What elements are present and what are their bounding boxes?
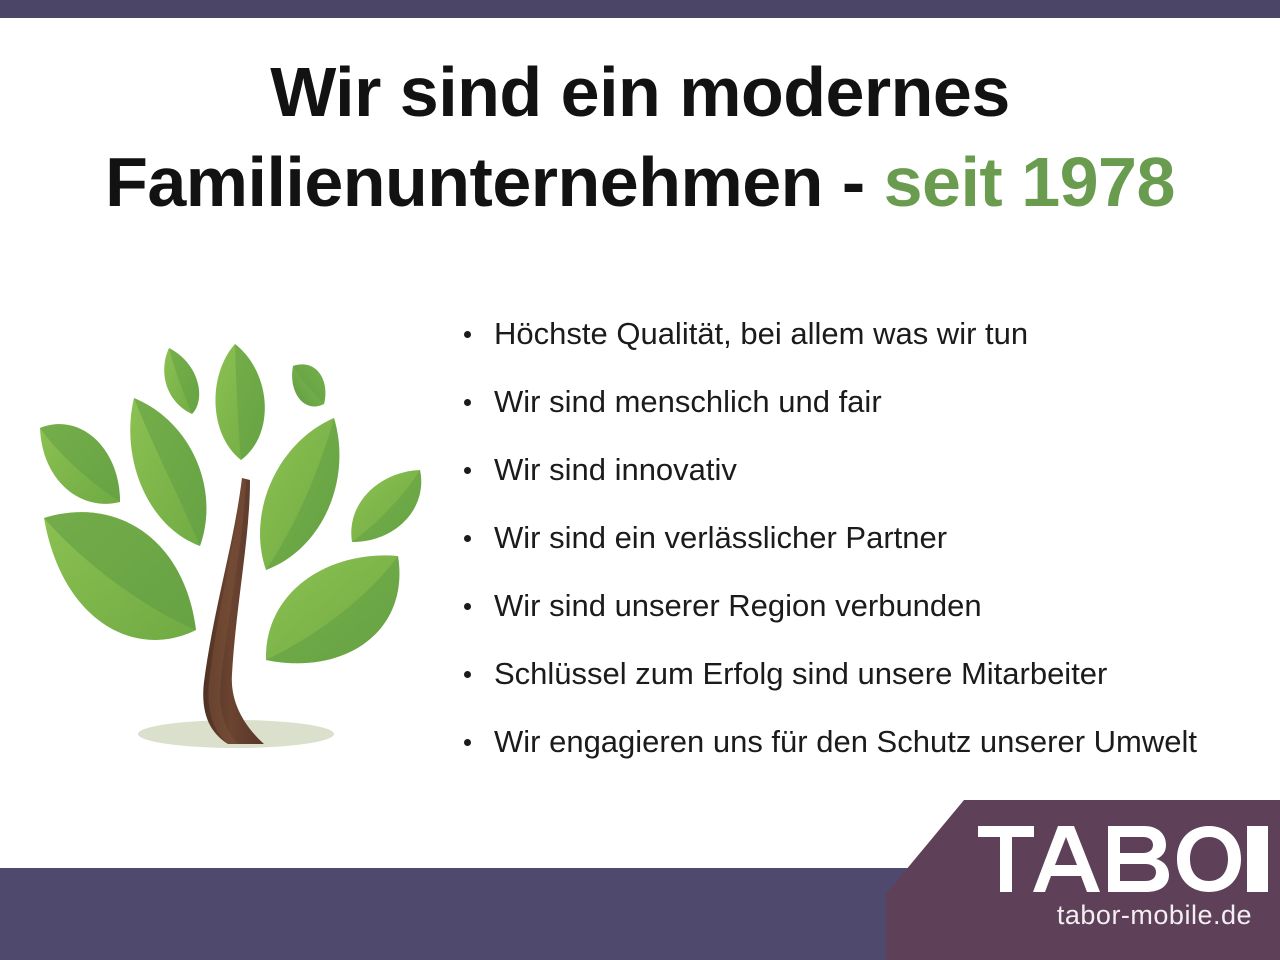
list-item-label: Wir sind unserer Region verbunden (494, 588, 982, 623)
list-item: Wir sind innovativ (458, 436, 1268, 504)
list-item-label: Wir sind ein verlässlicher Partner (494, 520, 947, 555)
bullet-dot-icon (464, 535, 471, 542)
values-list: Höchste Qualität, bei allem was wir tun … (458, 300, 1268, 776)
leaf-upper-left (40, 424, 120, 504)
leaf-top-center (215, 344, 264, 460)
leaf-lower-left (44, 512, 196, 640)
list-item: Wir engagieren uns für den Schutz unsere… (458, 708, 1268, 776)
list-item: Schlüssel zum Erfolg sind unsere Mitarbe… (458, 640, 1268, 708)
top-accent-bar (0, 0, 1280, 18)
leaf-top-right-small (292, 364, 325, 406)
list-item: Wir sind ein verlässlicher Partner (458, 504, 1268, 572)
leaf-mid-left (130, 398, 206, 546)
list-item: Wir sind menschlich und fair (458, 368, 1268, 436)
list-item-label: Wir sind innovativ (494, 452, 737, 487)
list-item-label: Wir engagieren uns für den Schutz unsere… (494, 724, 1197, 759)
list-item-label: Höchste Qualität, bei allem was wir tun (494, 316, 1028, 351)
heading-accent-year: seit 1978 (884, 143, 1175, 221)
list-item: Höchste Qualität, bei allem was wir tun (458, 300, 1268, 368)
brand-domain: tabor-mobile.de (886, 900, 1280, 931)
heading-line-2: Familienunternehmen - seit 1978 (0, 138, 1280, 228)
page-title: Wir sind ein modernes Familienunternehme… (0, 48, 1280, 227)
leaf-top-left-small (164, 348, 199, 414)
bullet-dot-icon (464, 331, 471, 338)
heading-line-2-main: Familienunternehmen - (105, 143, 884, 221)
bullet-dot-icon (464, 739, 471, 746)
slide-canvas: Wir sind ein modernes Familienunternehme… (0, 0, 1280, 960)
brand-logo[interactable]: tabor-mobile.de (886, 800, 1280, 960)
leaf-right-small (351, 470, 421, 542)
bullet-dot-icon (464, 603, 471, 610)
tree-illustration (28, 330, 440, 762)
list-item-label: Wir sind menschlich und fair (494, 384, 882, 419)
bullet-dot-icon (464, 399, 471, 406)
leaf-lower-right (266, 555, 399, 663)
heading-line-1: Wir sind ein modernes (0, 48, 1280, 138)
list-item-label: Schlüssel zum Erfolg sind unsere Mitarbe… (494, 656, 1107, 691)
leaf-mid-right (260, 418, 339, 570)
list-item: Wir sind unserer Region verbunden (458, 572, 1268, 640)
bullet-dot-icon (464, 467, 471, 474)
bullet-dot-icon (464, 671, 471, 678)
tabor-wordmark-icon (978, 826, 1268, 892)
